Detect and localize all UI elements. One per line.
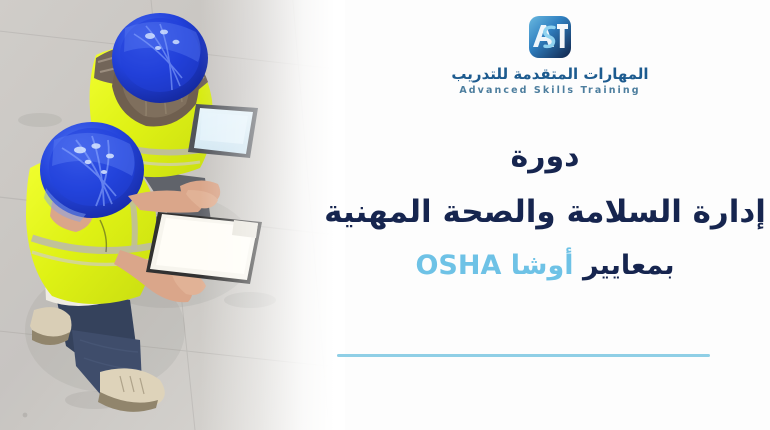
course-promo-banner: المهارات المتقدمة للتدريب Advanced Skill… bbox=[0, 0, 770, 430]
content-panel: المهارات المتقدمة للتدريب Advanced Skill… bbox=[330, 0, 770, 430]
title-line-3: بمعايير أوشا OSHA bbox=[320, 250, 770, 281]
ast-logo-icon bbox=[527, 14, 573, 60]
title-line-3-dark: بمعايير bbox=[583, 250, 675, 281]
course-title: دورة إدارة السلامة والصحة المهنية بمعايي… bbox=[320, 140, 770, 281]
title-line-2: إدارة السلامة والصحة المهنية bbox=[320, 195, 770, 231]
title-divider bbox=[337, 354, 710, 357]
title-line-3-accent: أوشا OSHA bbox=[415, 250, 573, 281]
brand-logo-block: المهارات المتقدمة للتدريب Advanced Skill… bbox=[330, 14, 770, 96]
brand-name-english: Advanced Skills Training bbox=[459, 86, 640, 96]
workers-photo-illustration bbox=[0, 0, 345, 430]
workers-photo bbox=[0, 0, 345, 430]
brand-name-arabic: المهارات المتقدمة للتدريب bbox=[451, 67, 648, 82]
title-line-1: دورة bbox=[320, 140, 770, 175]
